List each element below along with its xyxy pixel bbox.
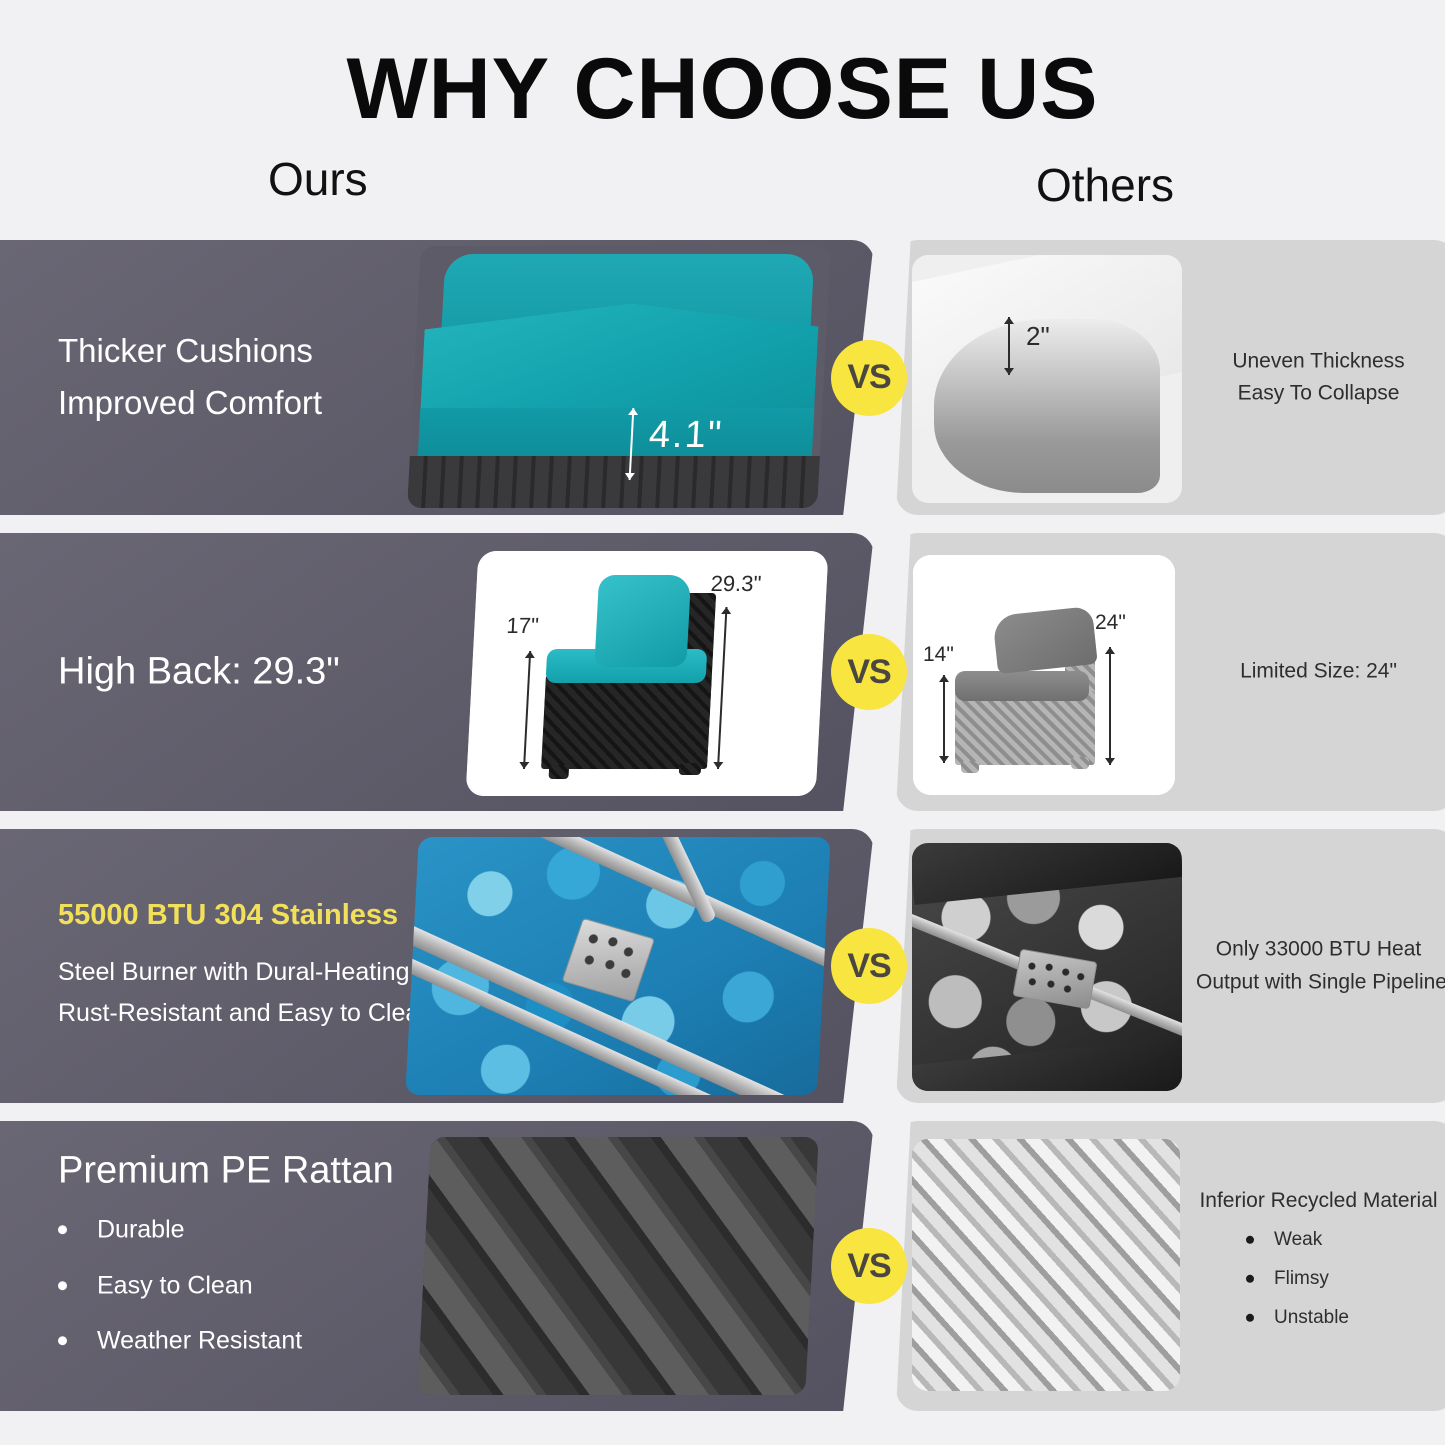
ours-heading: Premium PE Rattan: [58, 1149, 478, 1192]
comparison-row-btu-burner: 55000 BTU 304 Stainless Steel Burner wit…: [0, 829, 1445, 1103]
others-bullet-2: Flimsy: [1274, 1268, 1329, 1290]
bullet-dot-icon: [1246, 1236, 1254, 1244]
bullet-dot-icon: [58, 1337, 67, 1346]
ours-panel-row2: High Back: 29.3": [0, 533, 874, 811]
dimension-label-seat-height: 17": [506, 613, 540, 639]
others-text-row3: Only 33000 BTU Heat Output with Single P…: [1196, 933, 1441, 998]
comparison-row-pe-rattan: Premium PE Rattan Durable Easy to Clean …: [0, 1121, 1445, 1411]
dimension-label-back-height: 29.3": [710, 571, 762, 597]
dimension-line-back-height: [1109, 647, 1111, 765]
page-title: WHY CHOOSE US: [0, 0, 1445, 134]
dimension-label-cushion: 4.1": [648, 414, 725, 457]
dimension-label-foam: 2": [1026, 321, 1050, 352]
list-item: Flimsy: [1246, 1268, 1441, 1290]
column-header-ours: Ours: [268, 152, 368, 206]
list-item: Durable: [58, 1216, 478, 1244]
ours-text-row2: High Back: 29.3": [58, 651, 478, 694]
list-item: Easy to Clean: [58, 1272, 478, 1300]
list-item: Weather Resistant: [58, 1327, 478, 1355]
competitor-photo-recycled-weave: [912, 1139, 1180, 1391]
product-photo-high-back-chair: 17" 29.3": [466, 551, 829, 796]
others-heading: Inferior Recycled Material: [1196, 1186, 1441, 1215]
others-line-2: Easy To Collapse: [1196, 378, 1441, 411]
product-photo-pe-rattan-weave: [417, 1137, 819, 1395]
column-headers: Ours Others: [0, 152, 1445, 224]
column-header-others: Others: [1036, 158, 1174, 212]
dimension-label-seat-height: 14": [923, 643, 954, 667]
comparison-row-high-back: High Back: 29.3": [0, 533, 1445, 811]
ours-panel-row1: Thicker Cushions Improved Comfort 4.1": [0, 240, 874, 515]
ours-bullet-list: Durable Easy to Clean Weather Resistant: [58, 1216, 478, 1355]
ours-panel-row3: 55000 BTU 304 Stainless Steel Burner wit…: [0, 829, 874, 1103]
others-line-1: Only 33000 BTU Heat: [1196, 933, 1441, 966]
list-item: Unstable: [1246, 1307, 1441, 1329]
others-text-row4: Inferior Recycled Material Weak Flimsy U…: [1196, 1186, 1441, 1346]
others-line-1: Uneven Thickness: [1196, 345, 1441, 378]
bullet-dot-icon: [1246, 1275, 1254, 1283]
vs-badge-row3: VS: [831, 928, 907, 1004]
comparison-row-thicker-cushions: Thicker Cushions Improved Comfort 4.1" V…: [0, 240, 1445, 515]
dimension-line-seat-height: [943, 675, 945, 763]
vs-badge-row1: VS: [831, 340, 907, 416]
vs-badge-row2: VS: [831, 634, 907, 710]
ours-bullet-3: Weather Resistant: [97, 1327, 302, 1355]
others-bullet-list: Weak Flimsy Unstable: [1196, 1229, 1441, 1329]
competitor-photo-grey-fire-glass-burner: [912, 843, 1182, 1091]
ours-line-1: High Back: 29.3": [58, 651, 478, 694]
others-text-row1: Uneven Thickness Easy To Collapse: [1196, 345, 1441, 410]
competitor-photo-thin-foam: 2": [912, 255, 1182, 503]
competitor-photo-low-back-chair: 14" 24": [913, 555, 1175, 795]
ours-text-row4: Premium PE Rattan Durable Easy to Clean …: [58, 1149, 478, 1383]
others-text-row2: Limited Size: 24": [1196, 656, 1441, 689]
bullet-dot-icon: [58, 1226, 67, 1235]
vs-badge-row4: VS: [831, 1228, 907, 1304]
dimension-line-foam: [1008, 317, 1010, 375]
ours-underline-highlight: [268, 204, 416, 227]
product-photo-thick-cushion: 4.1": [407, 246, 831, 508]
ours-bullet-2: Easy to Clean: [97, 1272, 253, 1300]
ours-bullet-1: Durable: [97, 1216, 185, 1244]
comparison-infographic: WHY CHOOSE US Ours Others Thicker Cushio…: [0, 0, 1445, 1445]
bullet-dot-icon: [58, 1281, 67, 1290]
product-photo-blue-fire-glass-burner: [405, 837, 831, 1095]
list-item: Weak: [1246, 1229, 1441, 1251]
ours-panel-row4: Premium PE Rattan Durable Easy to Clean …: [0, 1121, 874, 1411]
others-bullet-3: Unstable: [1274, 1307, 1349, 1329]
others-line-1: Limited Size: 24": [1196, 656, 1441, 689]
dimension-label-back-height: 24": [1095, 611, 1126, 635]
others-line-2: Output with Single Pipeline: [1196, 966, 1441, 999]
bullet-dot-icon: [1246, 1314, 1254, 1322]
others-bullet-1: Weak: [1274, 1229, 1322, 1251]
